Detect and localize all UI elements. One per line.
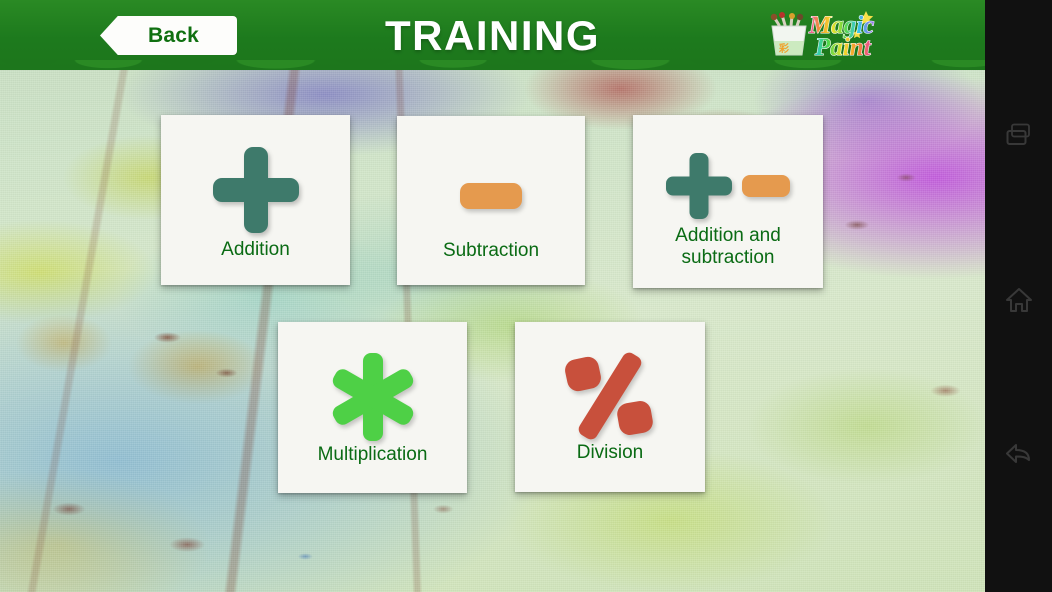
label-line-1: Addition and <box>675 225 781 246</box>
plus-minus-icon-wrap <box>633 143 823 229</box>
asterisk-icon-wrap <box>278 350 467 444</box>
card-subtraction-label: Subtraction <box>397 240 585 262</box>
magic-paint-logo[interactable]: 彩 Magic Paint <box>765 5 885 63</box>
card-addition-and-subtraction-label: Addition and subtraction <box>633 225 823 270</box>
label-line-2: subtraction <box>682 247 775 268</box>
plus-icon <box>213 147 299 233</box>
minus-icon <box>742 175 790 197</box>
back-button[interactable]: Back <box>100 16 237 55</box>
paint-cup-with-brushes-icon: 彩 <box>771 12 806 55</box>
recent-apps-button[interactable] <box>985 106 1052 164</box>
recent-apps-icon <box>1006 122 1032 148</box>
card-division[interactable]: Division <box>515 322 705 492</box>
percent-division-icon <box>564 350 656 442</box>
svg-text:彩: 彩 <box>778 42 789 55</box>
plus-icon-wrap <box>161 145 350 235</box>
back-button-nav[interactable] <box>985 426 1052 484</box>
minus-icon <box>460 183 522 209</box>
minus-icon-wrap <box>397 156 585 236</box>
card-addition-label: Addition <box>161 239 350 261</box>
home-icon <box>1005 286 1033 314</box>
android-navigation-bar <box>985 0 1052 592</box>
screen-root: Back TRAINING <box>0 0 1052 592</box>
plus-icon <box>666 153 732 219</box>
back-arrow-icon <box>1005 442 1033 468</box>
division-icon-wrap <box>515 348 705 444</box>
asterisk-icon <box>328 352 418 442</box>
card-multiplication-label: Multiplication <box>278 444 467 466</box>
card-subtraction[interactable]: Subtraction <box>397 116 585 285</box>
logo-word-paint: Paint <box>814 34 872 61</box>
app-canvas: Back TRAINING <box>0 0 985 592</box>
paper-texture-overlay <box>0 0 985 592</box>
card-addition-and-subtraction[interactable]: Addition and subtraction <box>633 115 823 288</box>
home-button[interactable] <box>985 271 1052 329</box>
back-button-label: Back <box>148 24 199 48</box>
card-multiplication[interactable]: Multiplication <box>278 322 467 493</box>
card-addition[interactable]: Addition <box>161 115 350 285</box>
card-division-label: Division <box>515 442 705 464</box>
